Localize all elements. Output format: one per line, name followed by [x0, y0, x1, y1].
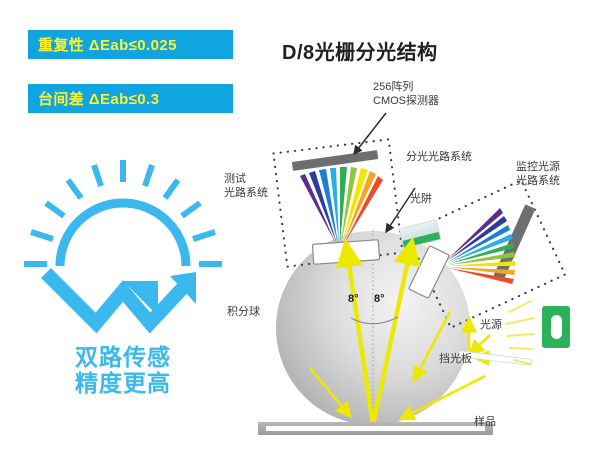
angle-label-right: 8° [374, 293, 385, 305]
lamp-glow-rays [506, 301, 534, 364]
logo-tagline: 双路传感 精度更高 [18, 344, 228, 396]
diagram-canvas: 256阵列 CMOS探测器 分光光路系统 测试 光路系统 光阱 监控光源 光路系… [218, 80, 600, 450]
label-spectro-system: 分光光路系统 [406, 150, 472, 164]
cmos-detector-bar [292, 150, 378, 171]
label-test-optical-line2: 光路系统 [224, 186, 268, 200]
optical-diagram-svg [218, 80, 600, 450]
diagram-title: D/8光栅分光结构 [282, 36, 582, 65]
spectrum-fan-right [447, 208, 515, 284]
sample-bar [258, 422, 493, 435]
spec-banner-repeatability: 重复性 ΔEab≤0.025 [28, 30, 233, 59]
label-monitor-optical-system: 监控光源 光路系统 [516, 160, 560, 188]
label-light-source: 光源 [480, 318, 502, 332]
label-cmos-line2: CMOS探测器 [373, 94, 439, 108]
angle-label-left: 8° [348, 293, 359, 305]
label-light-trap: 光阱 [410, 192, 432, 206]
label-baffle: 挡光板 [439, 352, 472, 366]
logo-tagline-line1: 双路传感 [18, 344, 228, 370]
label-test-optical-line1: 测试 [224, 172, 268, 186]
label-cmos-line1: 256阵列 [373, 80, 439, 94]
light-trap [399, 220, 441, 249]
label-monitor-line2: 光路系统 [516, 174, 560, 188]
sun-double-arrow-icon [18, 148, 228, 348]
label-integrating-sphere: 积分球 [227, 305, 260, 319]
spec-banner-inter-instrument-text: 台间差 ΔEab≤0.3 [38, 88, 159, 109]
label-monitor-line1: 监控光源 [516, 160, 560, 174]
spec-banner-inter-instrument: 台间差 ΔEab≤0.3 [28, 84, 233, 113]
spec-banner-repeatability-text: 重复性 ΔEab≤0.025 [38, 34, 177, 55]
label-cmos-detector: 256阵列 CMOS探测器 [373, 80, 439, 108]
light-source-lamp [542, 306, 570, 348]
cmos-pointer-arrow [354, 113, 386, 154]
label-test-optical-system: 测试 光路系统 [224, 172, 268, 200]
label-sample: 样品 [474, 415, 496, 429]
logo-tagline-line2: 精度更高 [18, 370, 228, 396]
infographic-root: 重复性 ΔEab≤0.025 台间差 ΔEab≤0.3 双路传感 精度更高 [0, 0, 600, 450]
